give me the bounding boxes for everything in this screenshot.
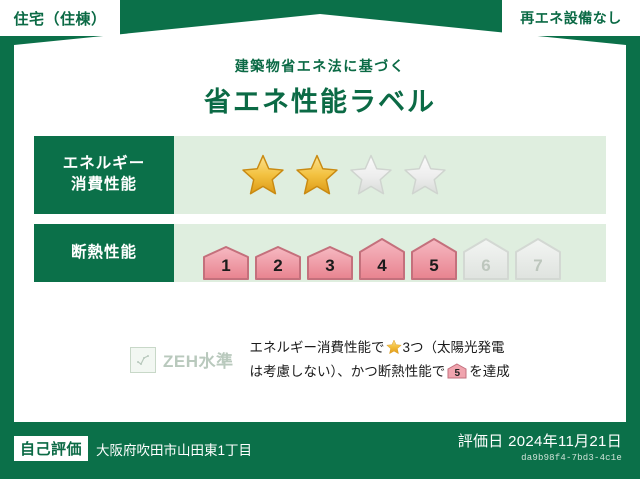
energy-label-line2: 消費性能 bbox=[63, 175, 146, 196]
insulation-level-house: 3 bbox=[306, 246, 354, 280]
building-type-tag-label: 住宅（住棟） bbox=[13, 8, 106, 29]
label-footer: 自己評価 大阪府吹田市山田東1丁目 評価日 2024年11月21日 da9b98… bbox=[0, 422, 640, 479]
star-filled-icon bbox=[294, 153, 340, 197]
evaluation-id: da9b98f4-7bd3-4c1e bbox=[458, 453, 622, 463]
zeh-desc-part3: を達成 bbox=[469, 364, 510, 379]
insulation-level-house: 4 bbox=[358, 238, 406, 280]
insulation-level-house: 2 bbox=[254, 246, 302, 280]
insulation-performance-row: 断熱性能 1234567 bbox=[34, 224, 606, 282]
zeh-standard-row: ZEH水準 エネルギー消費性能で3つ（太陽光発電は考慮しない）、かつ断熱性能で5… bbox=[130, 336, 518, 383]
insulation-level-house: 5 bbox=[410, 238, 458, 280]
zeh-desc-part1: エネルギー消費性能で bbox=[250, 340, 385, 355]
energy-star-rating bbox=[174, 136, 606, 214]
inline-house-badge: 5 bbox=[447, 363, 467, 379]
zeh-description: エネルギー消費性能で3つ（太陽光発電は考慮しない）、かつ断熱性能で5を達成 bbox=[250, 336, 518, 383]
insulation-level-scale: 1234567 bbox=[174, 224, 606, 282]
footer-left-group: 自己評価 大阪府吹田市山田東1丁目 bbox=[14, 436, 252, 461]
star-empty-icon bbox=[348, 153, 394, 197]
energy-performance-label: 住宅（住棟） 再エネ設備なし 建築物省エネ法に基づく 省エネ性能ラベル エネルギ… bbox=[0, 0, 640, 479]
self-evaluation-badge: 自己評価 bbox=[14, 436, 88, 461]
insulation-label-text: 断熱性能 bbox=[71, 243, 137, 264]
footer-right-group: 評価日 2024年11月21日 da9b98f4-7bd3-4c1e bbox=[458, 430, 622, 463]
insulation-level-house: 7 bbox=[514, 238, 562, 280]
page-title: 省エネ性能ラベル bbox=[0, 80, 640, 119]
building-type-tag: 住宅（住棟） bbox=[0, 0, 120, 36]
zeh-badge-label: ZEH水準 bbox=[163, 347, 234, 372]
insulation-performance-label-panel: 断熱性能 bbox=[34, 224, 174, 282]
star-empty-icon bbox=[402, 153, 448, 197]
performance-rows: エネルギー 消費性能 断熱性能 1234567 bbox=[34, 136, 606, 292]
zeh-badge: ZEH水準 bbox=[130, 347, 234, 373]
renewable-equipment-tag-label: 再エネ設備なし bbox=[520, 8, 622, 28]
evaluation-date: 評価日 2024年11月21日 bbox=[458, 430, 622, 451]
title-subtitle: 建築物省エネ法に基づく bbox=[0, 56, 640, 76]
energy-performance-row: エネルギー 消費性能 bbox=[34, 136, 606, 214]
zeh-check-icon bbox=[130, 347, 156, 373]
property-address: 大阪府吹田市山田東1丁目 bbox=[96, 439, 252, 459]
insulation-level-house: 1 bbox=[202, 246, 250, 280]
renewable-equipment-tag: 再エネ設備なし bbox=[502, 0, 640, 36]
energy-label-line1: エネルギー bbox=[63, 154, 146, 175]
inline-house-number: 5 bbox=[447, 369, 467, 379]
energy-performance-label-panel: エネルギー 消費性能 bbox=[34, 136, 174, 214]
inline-star-icon bbox=[386, 339, 402, 355]
star-filled-icon bbox=[240, 153, 286, 197]
title-block: 建築物省エネ法に基づく 省エネ性能ラベル bbox=[0, 56, 640, 119]
insulation-level-house: 6 bbox=[462, 238, 510, 280]
